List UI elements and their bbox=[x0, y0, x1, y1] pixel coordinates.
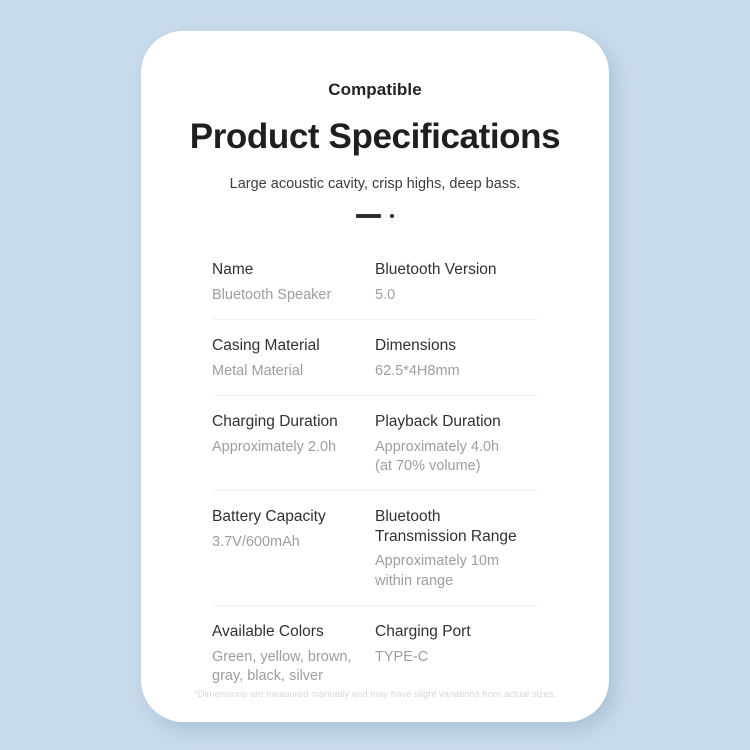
spec-label: Charging Duration bbox=[212, 412, 367, 432]
spec-label: Bluetooth Transmission Range bbox=[375, 507, 530, 546]
dot-icon bbox=[390, 214, 394, 218]
table-row: Charging Duration Approximately 2.0h Pla… bbox=[212, 412, 538, 491]
spec-value: 5.0 bbox=[375, 286, 530, 305]
spec-value: Green, yellow, brown, gray, black, silve… bbox=[212, 648, 367, 687]
spec-cell-left: Charging Duration Approximately 2.0h bbox=[212, 412, 375, 476]
spec-label: Dimensions bbox=[375, 336, 530, 356]
spec-cell-right: Bluetooth Version 5.0 bbox=[375, 260, 538, 305]
eyebrow-label: Compatible bbox=[141, 81, 609, 98]
page-root: Compatible Product Specifications Large … bbox=[0, 0, 750, 750]
spec-label: Playback Duration bbox=[375, 412, 530, 432]
spec-label: Charging Port bbox=[375, 622, 530, 642]
card-header: Compatible Product Specifications Large … bbox=[141, 31, 609, 220]
spec-cell-right: Playback Duration Approximately 4.0h (at… bbox=[375, 412, 538, 476]
spec-label: Casing Material bbox=[212, 336, 367, 356]
table-row: Casing Material Metal Material Dimension… bbox=[212, 336, 538, 396]
spec-value: Approximately 10m within range bbox=[375, 552, 530, 591]
spec-label: Name bbox=[212, 260, 367, 280]
subtitle-text: Large acoustic cavity, crisp highs, deep… bbox=[141, 177, 609, 192]
spec-value: Metal Material bbox=[212, 362, 367, 381]
footnote-text: *Dimensions are measured manually and ma… bbox=[141, 689, 609, 700]
table-row: Available Colors Green, yellow, brown, g… bbox=[212, 622, 538, 686]
spec-label: Bluetooth Version bbox=[375, 260, 530, 280]
table-row: Name Bluetooth Speaker Bluetooth Version… bbox=[212, 260, 538, 320]
specification-table: Name Bluetooth Speaker Bluetooth Version… bbox=[141, 260, 609, 686]
spec-cell-right: Dimensions 62.5*4H8mm bbox=[375, 336, 538, 381]
spec-value: TYPE-C bbox=[375, 648, 530, 667]
spec-value: 62.5*4H8mm bbox=[375, 362, 530, 381]
spec-cell-left: Available Colors Green, yellow, brown, g… bbox=[212, 622, 375, 686]
spec-value: Approximately 2.0h bbox=[212, 438, 367, 457]
spec-cell-left: Battery Capacity 3.7V/600mAh bbox=[212, 507, 375, 591]
spec-cell-left: Casing Material Metal Material bbox=[212, 336, 375, 381]
spec-cell-right: Charging Port TYPE-C bbox=[375, 622, 538, 686]
spec-cell-left: Name Bluetooth Speaker bbox=[212, 260, 375, 305]
page-title: Product Specifications bbox=[141, 119, 609, 154]
spec-value: Approximately 4.0h (at 70% volume) bbox=[375, 438, 530, 477]
dash-icon bbox=[356, 214, 381, 218]
spec-value: 3.7V/600mAh bbox=[212, 533, 367, 552]
product-specifications-card: Compatible Product Specifications Large … bbox=[141, 31, 609, 722]
divider-ornament bbox=[141, 212, 609, 220]
spec-label: Available Colors bbox=[212, 622, 367, 642]
spec-value: Bluetooth Speaker bbox=[212, 286, 367, 305]
spec-label: Battery Capacity bbox=[212, 507, 367, 527]
table-row: Battery Capacity 3.7V/600mAh Bluetooth T… bbox=[212, 507, 538, 606]
spec-cell-right: Bluetooth Transmission Range Approximate… bbox=[375, 507, 538, 591]
